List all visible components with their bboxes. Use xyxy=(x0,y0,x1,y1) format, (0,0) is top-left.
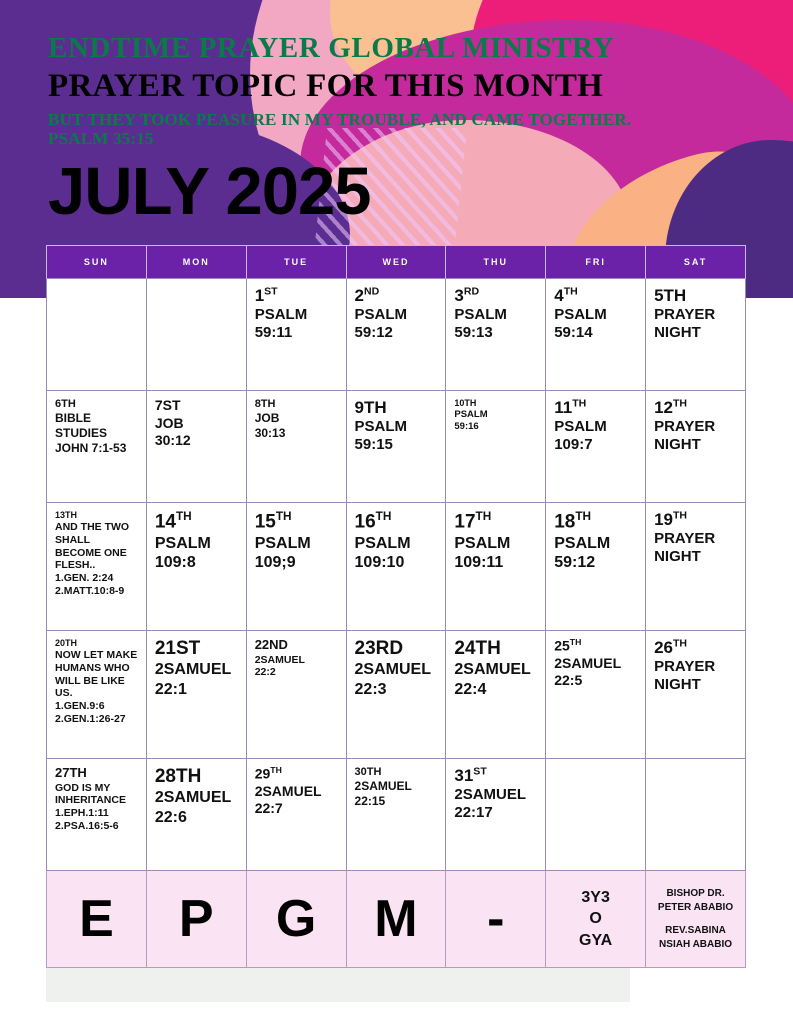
day-ordinal-suffix: TH xyxy=(572,397,586,409)
footer-letter-e: E xyxy=(79,890,114,948)
calendar-day-cell[interactable]: 24TH2SAMUEL22:4 xyxy=(446,631,546,759)
calendar-empty-cell xyxy=(646,759,746,871)
day-entry-line: NIGHT xyxy=(654,548,739,566)
calendar-day-cell[interactable]: 27THGOD IS MYINHERITANCE1.EPH.1:112.PSA.… xyxy=(47,759,147,871)
day-entry-line: 30:13 xyxy=(255,426,340,441)
footer-row: E P G M - 3Y3 O GYA BISHOP DR. PETER ABA… xyxy=(47,871,746,968)
day-entry-line: 2.MATT.10:8-9 xyxy=(55,585,140,598)
day-number: 16TH xyxy=(355,510,440,533)
day-entry-line: 2SAMUEL xyxy=(454,786,539,804)
day-entry-line: 1.GEN.9:6 xyxy=(55,700,140,713)
day-entry-line: 1.GEN. 2:24 xyxy=(55,572,140,585)
footer-letter-cell: - xyxy=(446,871,546,968)
calendar-day-cell[interactable]: 2NDPSALM59:12 xyxy=(346,279,446,391)
calendar-week-row: 13THAND THE TWOSHALLBECOME ONEFLESH..1.G… xyxy=(47,503,746,631)
day-entry-line: PSALM xyxy=(355,534,440,554)
day-number: 22ND xyxy=(255,638,340,653)
day-ordinal-suffix: TH xyxy=(564,285,578,297)
day-entry-line: 109:7 xyxy=(554,436,639,454)
day-entry-line: GOD IS MY xyxy=(55,782,140,795)
day-entry-line: 2SAMUEL xyxy=(155,660,240,680)
day-entry-line: PRAYER xyxy=(654,418,739,436)
day-number: 30TH xyxy=(355,766,440,778)
footer-letter-cell: M xyxy=(346,871,446,968)
calendar-day-cell[interactable]: 7STJOB30:12 xyxy=(146,391,246,503)
calendar-day-cell[interactable]: 3RDPSALM59:13 xyxy=(446,279,546,391)
day-entry-line: 22:6 xyxy=(155,808,240,828)
day-entry-line: NIGHT xyxy=(654,676,739,694)
day-number: 28TH xyxy=(155,766,240,787)
calendar-day-cell[interactable]: 4THPSALM59:14 xyxy=(546,279,646,391)
bishop-title: BISHOP DR. xyxy=(652,887,739,901)
calendar-day-cell[interactable]: 12THPRAYERNIGHT xyxy=(646,391,746,503)
calendar-day-cell[interactable]: 21ST2SAMUEL22:1 xyxy=(146,631,246,759)
day-entry-line: PSALM xyxy=(554,418,639,436)
day-entry-line: PSALM xyxy=(355,306,440,324)
calendar-day-cell[interactable]: 22ND2SAMUEL22:2 xyxy=(246,631,346,759)
calendar-week-row: 20THNOW LET MAKEHUMANS WHOWILL BE LIKEUS… xyxy=(47,631,746,759)
day-number: 18TH xyxy=(554,510,639,533)
day-number: 24TH xyxy=(454,638,539,659)
day-entry-line: 59:14 xyxy=(554,324,639,342)
calendar-week-row: 27THGOD IS MYINHERITANCE1.EPH.1:112.PSA.… xyxy=(47,759,746,871)
calendar-day-cell[interactable]: 10THPSALM59:16 xyxy=(446,391,546,503)
scripture-reference: BUT THEY TOOK PEASURE IN MY TROUBLE, AND… xyxy=(48,110,668,148)
day-number: 27TH xyxy=(55,766,140,781)
day-entry-line: PRAYER xyxy=(654,530,739,548)
day-number: 8TH xyxy=(255,398,340,410)
day-entry-line: 59:15 xyxy=(355,436,440,454)
day-entry-line: PSALM xyxy=(454,534,539,554)
calendar-day-cell[interactable]: 30TH2SAMUEL22:15 xyxy=(346,759,446,871)
calendar-week-row: 6THBIBLESTUDIESJOHN 7:1-537STJOB30:128TH… xyxy=(47,391,746,503)
month-year-title: JULY 2025 xyxy=(48,153,371,230)
day-number: 4TH xyxy=(554,286,639,305)
day-entry-line: JOHN 7:1-53 xyxy=(55,441,140,456)
day-entry-line: BIBLE xyxy=(55,411,140,426)
calendar-week-row: 1STPSALM59:112NDPSALM59:123RDPSALM59:134… xyxy=(47,279,746,391)
day-entry-line: 59:11 xyxy=(255,324,340,342)
bishop-name: PETER ABABIO xyxy=(652,901,739,915)
calendar-day-cell[interactable]: 8THJOB30:13 xyxy=(246,391,346,503)
prayer-topic-heading: PRAYER TOPIC FOR THIS MONTH xyxy=(48,68,603,105)
day-number: 3RD xyxy=(454,286,539,305)
calendar-day-cell[interactable]: 28TH2SAMUEL22:6 xyxy=(146,759,246,871)
calendar-day-cell[interactable]: 29TH2SAMUEL22:7 xyxy=(246,759,346,871)
weekday-header-wed: WED xyxy=(346,246,446,279)
calendar-day-cell[interactable]: 14THPSALM109:8 xyxy=(146,503,246,631)
day-number: 2ND xyxy=(355,286,440,305)
calendar-day-cell[interactable]: 19THPRAYERNIGHT xyxy=(646,503,746,631)
calendar-day-cell[interactable]: 15THPSALM109;9 xyxy=(246,503,346,631)
rev-name: NSIAH ABABIO xyxy=(652,938,739,952)
day-entry-line: 2SAMUEL xyxy=(255,783,340,800)
day-entry-line: PRAYER xyxy=(654,306,739,324)
day-entry-line: US. xyxy=(55,687,140,700)
day-entry-line: WILL BE LIKE xyxy=(55,675,140,688)
day-entry-line: BECOME ONE xyxy=(55,547,140,560)
day-entry-line: 2SAMUEL xyxy=(355,779,440,794)
day-ordinal-suffix: TH xyxy=(673,509,687,521)
weekday-header-tue: TUE xyxy=(246,246,346,279)
calendar-day-cell[interactable]: 31ST2SAMUEL22:17 xyxy=(446,759,546,871)
day-ordinal-suffix: TH xyxy=(276,510,292,523)
day-number: 14TH xyxy=(155,510,240,533)
weekday-header-sun: SUN xyxy=(47,246,147,279)
day-entry-line: 2SAMUEL xyxy=(355,660,440,680)
rev-title: REV.SABINA xyxy=(652,924,739,938)
day-entry-line: JOB xyxy=(255,411,340,426)
day-number: 11TH xyxy=(554,398,639,417)
day-number: 13TH xyxy=(55,510,140,520)
name-spacer xyxy=(652,915,739,924)
day-entry-line: 59:12 xyxy=(554,553,639,573)
calendar-weeks: 1STPSALM59:112NDPSALM59:123RDPSALM59:134… xyxy=(47,279,746,871)
weekday-header-fri: FRI xyxy=(546,246,646,279)
day-ordinal-suffix: TH xyxy=(575,510,591,523)
calendar-day-cell[interactable]: 16THPSALM109:10 xyxy=(346,503,446,631)
day-ordinal-suffix: ND xyxy=(364,285,379,297)
footer-letter-m: M xyxy=(374,890,417,948)
footer-motto-line-1: 3Y3 xyxy=(552,887,639,909)
day-entry-line: 2SAMUEL xyxy=(554,655,639,672)
day-number: 6TH xyxy=(55,398,140,410)
day-entry-line: INHERITANCE xyxy=(55,794,140,807)
day-entry-line: PSALM xyxy=(454,306,539,324)
day-entry-line: PSALM xyxy=(554,306,639,324)
calendar-day-cell[interactable]: 20THNOW LET MAKEHUMANS WHOWILL BE LIKEUS… xyxy=(47,631,147,759)
calendar-day-cell[interactable]: 9THPSALM59:15 xyxy=(346,391,446,503)
footer-letter-cell: G xyxy=(246,871,346,968)
day-number: 17TH xyxy=(454,510,539,533)
day-entry-line: 2SAMUEL xyxy=(155,788,240,808)
calendar-day-cell[interactable]: 6THBIBLESTUDIESJOHN 7:1-53 xyxy=(47,391,147,503)
weekday-header-row: SUN MON TUE WED THU FRI SAT xyxy=(47,246,746,279)
day-ordinal-suffix: TH xyxy=(570,637,582,647)
day-entry-line: 22:2 xyxy=(255,666,340,679)
day-ordinal-suffix: TH xyxy=(176,510,192,523)
day-number: 12TH xyxy=(654,398,739,417)
day-entry-line: FLESH.. xyxy=(55,559,140,572)
day-number: 25TH xyxy=(554,638,639,654)
footer-letter-cell: E xyxy=(47,871,147,968)
day-number: 5TH xyxy=(654,286,739,305)
footer-letter-g: G xyxy=(276,890,316,948)
day-entry-line: 109;9 xyxy=(255,553,340,573)
day-number: 20TH xyxy=(55,638,140,648)
day-entry-line: 22:5 xyxy=(554,672,639,689)
day-number: 9TH xyxy=(355,398,440,417)
day-entry-line: PSALM xyxy=(554,534,639,554)
day-entry-line: 2.GEN.1:26-27 xyxy=(55,713,140,726)
day-number: 19TH xyxy=(654,510,739,529)
footer-letter-cell: P xyxy=(146,871,246,968)
calendar-day-cell[interactable]: 23RD2SAMUEL22:3 xyxy=(346,631,446,759)
day-entry-line: PRAYER xyxy=(654,658,739,676)
calendar-day-cell[interactable]: 13THAND THE TWOSHALLBECOME ONEFLESH..1.G… xyxy=(47,503,147,631)
day-ordinal-suffix: TH xyxy=(673,637,687,649)
weekday-header-mon: MON xyxy=(146,246,246,279)
day-entry-line: 22:1 xyxy=(155,680,240,700)
day-ordinal-suffix: RD xyxy=(464,285,479,297)
footer-motto-line-2: O xyxy=(552,908,639,930)
day-number: 15TH xyxy=(255,510,340,533)
day-number: 10TH xyxy=(454,398,539,408)
day-entry-line: HUMANS WHO xyxy=(55,662,140,675)
day-entry-line: 22:3 xyxy=(355,680,440,700)
day-number: 21ST xyxy=(155,638,240,659)
day-number: 23RD xyxy=(355,638,440,659)
day-entry-line: 59:16 xyxy=(454,421,539,433)
day-entry-line: 109:8 xyxy=(155,553,240,573)
calendar-empty-cell xyxy=(546,759,646,871)
day-entry-line: 109:11 xyxy=(454,553,539,573)
ministry-name: ENDTIME PRAYER GLOBAL MINISTRY xyxy=(48,32,614,65)
day-entry-line: PSALM xyxy=(454,409,539,421)
calendar-day-cell[interactable]: 5THPRAYERNIGHT xyxy=(646,279,746,391)
day-ordinal-suffix: TH xyxy=(673,397,687,409)
day-number: 29TH xyxy=(255,766,340,782)
day-entry-line: NOW LET MAKE xyxy=(55,649,140,662)
calendar-day-cell[interactable]: 11THPSALM109:7 xyxy=(546,391,646,503)
day-ordinal-suffix: TH xyxy=(376,510,392,523)
day-ordinal-suffix: ST xyxy=(264,285,277,297)
day-entry-line: PSALM xyxy=(355,418,440,436)
day-entry-line: 109:10 xyxy=(355,553,440,573)
weekday-header-sat: SAT xyxy=(646,246,746,279)
day-entry-line: 59:13 xyxy=(454,324,539,342)
day-number: 7ST xyxy=(155,398,240,414)
calendar-day-cell[interactable]: 17THPSALM109:11 xyxy=(446,503,546,631)
day-entry-line: 22:4 xyxy=(454,680,539,700)
day-number: 1ST xyxy=(255,286,340,305)
calendar-empty-cell xyxy=(146,279,246,391)
day-entry-line: 30:12 xyxy=(155,432,240,449)
day-entry-line: SHALL xyxy=(55,534,140,547)
day-entry-line: 22:15 xyxy=(355,794,440,809)
footer-motto-line-3: GYA xyxy=(552,930,639,952)
day-ordinal-suffix: TH xyxy=(270,765,282,775)
weekday-header-thu: THU xyxy=(446,246,546,279)
day-entry-line: AND THE TWO xyxy=(55,521,140,534)
footer-letter-p: P xyxy=(179,890,214,948)
day-ordinal-suffix: TH xyxy=(476,510,492,523)
day-entry-line: PSALM xyxy=(255,534,340,554)
calendar-day-cell[interactable]: 18THPSALM59:12 xyxy=(546,503,646,631)
day-entry-line: 22:7 xyxy=(255,800,340,817)
calendar-empty-cell xyxy=(47,279,147,391)
footer-dash: - xyxy=(487,890,504,948)
day-entry-line: 1.EPH.1:11 xyxy=(55,807,140,820)
prayer-calendar: SUN MON TUE WED THU FRI SAT 1STPSALM59:1… xyxy=(46,245,746,968)
day-entry-line: JOB xyxy=(155,415,240,432)
footer-motto-cell: 3Y3 O GYA xyxy=(546,871,646,968)
day-entry-line: 2.PSA.16:5-6 xyxy=(55,820,140,833)
day-number: 26TH xyxy=(654,638,739,657)
day-number: 31ST xyxy=(454,766,539,785)
calendar-day-cell[interactable]: 26THPRAYERNIGHT xyxy=(646,631,746,759)
day-entry-line: PSALM xyxy=(155,534,240,554)
day-entry-line: 22:17 xyxy=(454,804,539,822)
footer-leaders-cell: BISHOP DR. PETER ABABIO REV.SABINA NSIAH… xyxy=(646,871,746,968)
calendar-day-cell[interactable]: 1STPSALM59:11 xyxy=(246,279,346,391)
day-entry-line: PSALM xyxy=(255,306,340,324)
day-ordinal-suffix: ST xyxy=(473,765,486,777)
day-entry-line: 2SAMUEL xyxy=(454,660,539,680)
day-entry-line: 59:12 xyxy=(355,324,440,342)
day-entry-line: NIGHT xyxy=(654,324,739,342)
day-entry-line: NIGHT xyxy=(654,436,739,454)
day-entry-line: STUDIES xyxy=(55,426,140,441)
day-entry-line: 2SAMUEL xyxy=(255,654,340,667)
calendar-day-cell[interactable]: 25TH2SAMUEL22:5 xyxy=(546,631,646,759)
